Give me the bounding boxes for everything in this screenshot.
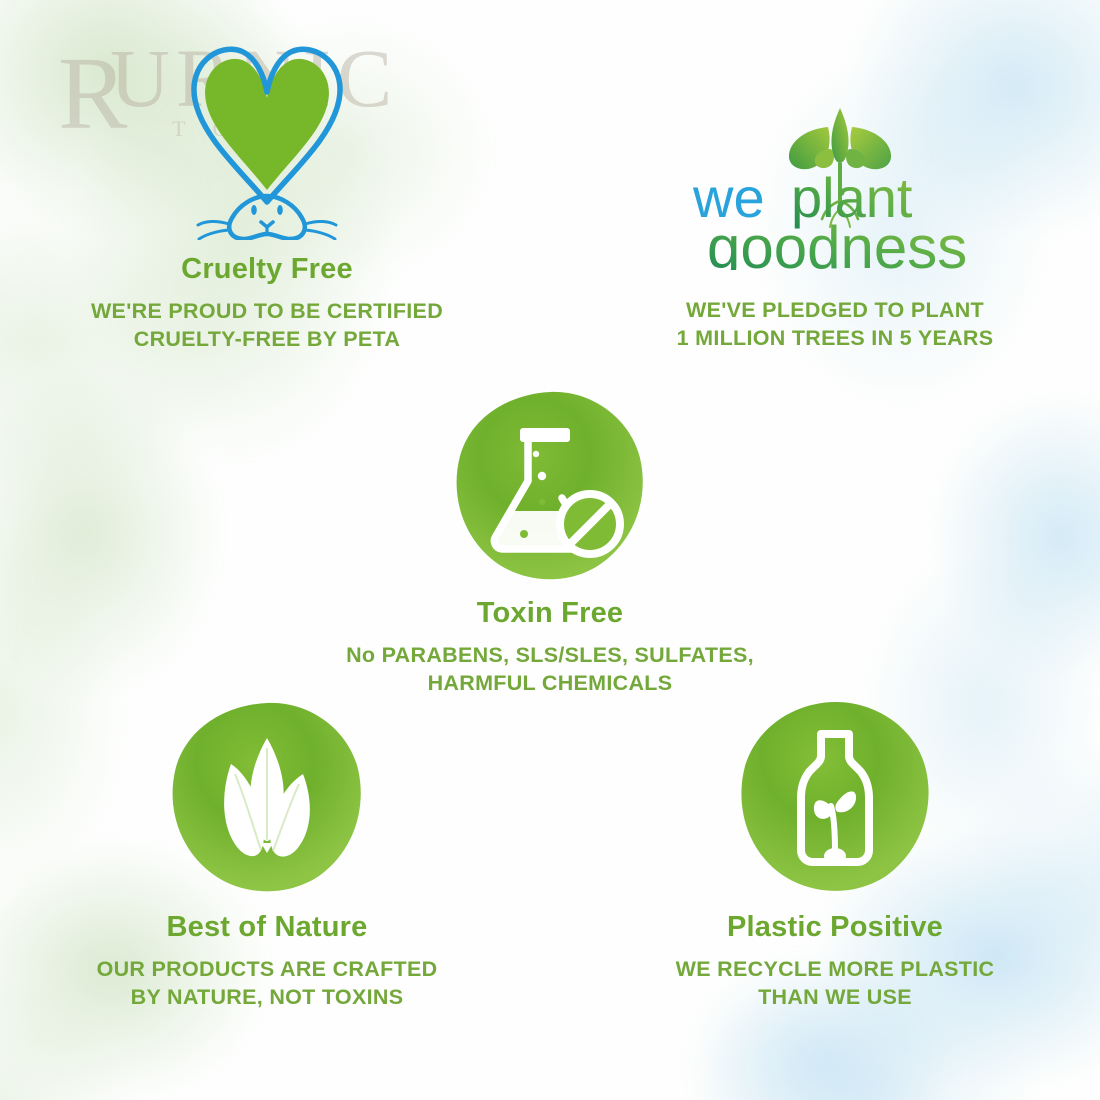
card-title-best-of-nature: Best of Nature [22, 912, 512, 944]
bunny-heart-icon [172, 40, 362, 240]
card-title-toxin-free: Toxin Free [300, 598, 800, 630]
card-desc-line: WE'VE PLEDGED TO PLANT [590, 296, 1080, 324]
card-toxin-free: Toxin Free No PARABENS, SLS/SLES, SULFAT… [300, 388, 800, 698]
leaves-icon [167, 700, 367, 898]
we-plant-goodness-logo: we plant goodness [685, 105, 985, 270]
we-plant-goodness-logo-wrap: we plant goodness [590, 105, 1080, 270]
card-desc-line: 1 MILLION TREES IN 5 YEARS [590, 324, 1080, 352]
card-desc-line: THAN WE USE [590, 983, 1080, 1011]
card-plastic-positive: Plastic Positive WE RECYCLE MORE PLASTIC… [590, 700, 1080, 1012]
bottle-sprout-icon [735, 700, 935, 898]
flask-no-toxins-icon [450, 388, 650, 586]
card-desc-line: OUR PRODUCTS ARE CRAFTED [22, 955, 512, 983]
nature-badge-wrap [22, 700, 512, 898]
card-desc-line: BY NATURE, NOT TOXINS [22, 983, 512, 1011]
card-best-of-nature: Best of Nature OUR PRODUCTS ARE CRAFTED … [22, 700, 512, 1012]
card-cruelty-free: Cruelty Free WE'RE PROUD TO BE CERTIFIED… [22, 40, 512, 354]
card-desc-line: No PARABENS, SLS/SLES, SULFATES, [300, 641, 800, 669]
logo-word-goodness: goodness [707, 214, 967, 270]
card-title-cruelty-free: Cruelty Free [22, 254, 512, 286]
card-desc-toxin-free: No PARABENS, SLS/SLES, SULFATES, HARMFUL… [300, 641, 800, 698]
card-desc-cruelty-free: WE'RE PROUD TO BE CERTIFIED CRUELTY-FREE… [22, 297, 512, 354]
card-desc-best-of-nature: OUR PRODUCTS ARE CRAFTED BY NATURE, NOT … [22, 955, 512, 1012]
infographic-canvas: R URNIC T O [0, 0, 1100, 1100]
card-title-plastic-positive: Plastic Positive [590, 912, 1080, 944]
bunny-heart-icon-wrap [22, 40, 512, 240]
card-desc-line: HARMFUL CHEMICALS [300, 669, 800, 697]
card-we-plant-goodness: we plant goodness WE'VE PLEDGED TO PLANT… [590, 105, 1080, 353]
card-desc-line: CRUELTY-FREE BY PETA [22, 325, 512, 353]
toxin-badge-wrap [300, 388, 800, 586]
card-desc-we-plant-goodness: WE'VE PLEDGED TO PLANT 1 MILLION TREES I… [590, 296, 1080, 353]
card-desc-line: WE RECYCLE MORE PLASTIC [590, 955, 1080, 983]
plastic-badge-wrap [590, 700, 1080, 898]
card-desc-plastic-positive: WE RECYCLE MORE PLASTIC THAN WE USE [590, 955, 1080, 1012]
card-desc-line: WE'RE PROUD TO BE CERTIFIED [22, 297, 512, 325]
